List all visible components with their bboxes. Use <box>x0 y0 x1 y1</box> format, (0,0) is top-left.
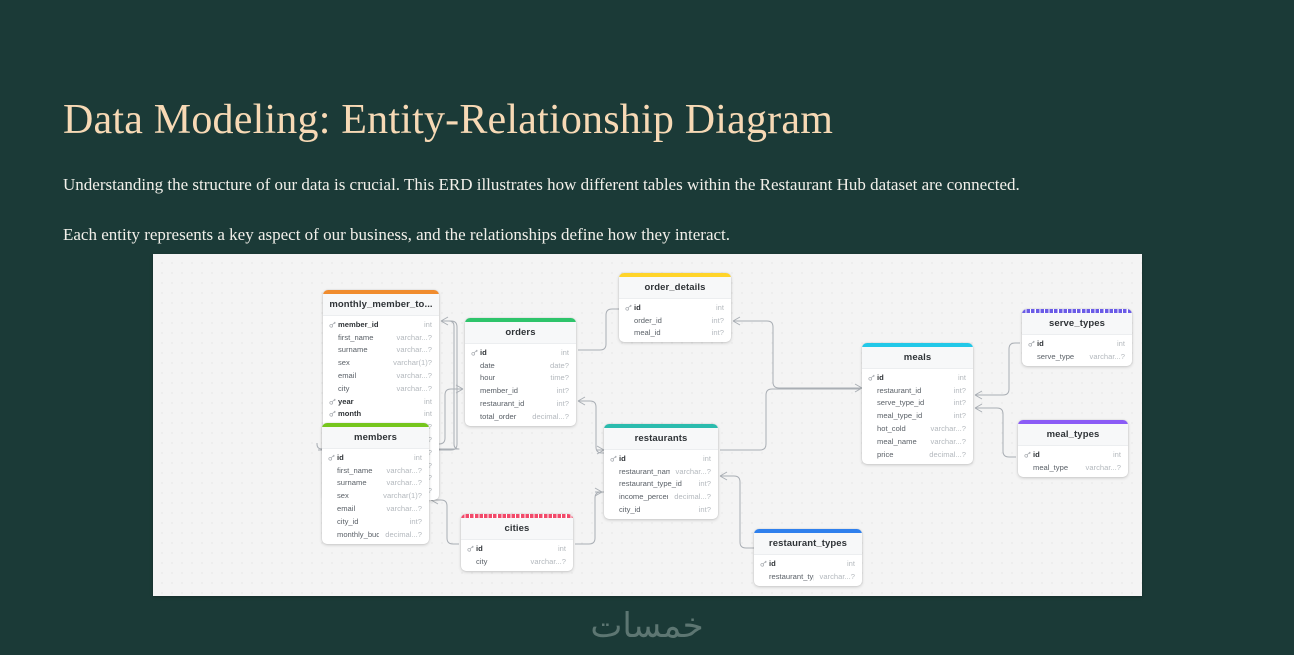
field-name: id <box>480 348 555 357</box>
table-field-row[interactable]: serve_typevarchar...? <box>1022 350 1132 363</box>
field-type: int? <box>699 479 711 488</box>
table-field-row[interactable]: idint <box>862 371 973 384</box>
erd-table-order_details[interactable]: order_detailsidintorder_idint?meal_idint… <box>619 273 731 342</box>
field-name: city <box>338 384 391 393</box>
primary-key-icon <box>1024 451 1031 458</box>
field-name: restaurant_id <box>480 399 551 408</box>
field-type: varchar(1)? <box>393 358 432 367</box>
table-field-row[interactable]: income_percentagdecimal...? <box>604 490 718 503</box>
field-type: int? <box>699 505 711 514</box>
table-field-row[interactable]: restaurant_namevarchar...? <box>604 465 718 478</box>
field-type: int <box>847 559 855 568</box>
field-type: int <box>424 409 432 418</box>
erd-table-meal_types[interactable]: meal_typesidintmeal_typevarchar...? <box>1018 420 1128 477</box>
field-type: varchar...? <box>820 572 855 581</box>
table-field-row[interactable]: emailvarchar...? <box>322 502 429 515</box>
field-name: meal_name <box>877 437 925 446</box>
intro-paragraph-1: Understanding the structure of our data … <box>63 175 1020 195</box>
table-field-list: idintfirst_namevarchar...?surnamevarchar… <box>322 449 429 544</box>
table-field-row[interactable]: meal_namevarchar...? <box>862 435 973 448</box>
table-field-row[interactable]: idint <box>1018 448 1128 461</box>
field-name: serve_type <box>1037 352 1084 361</box>
field-type: date? <box>550 361 569 370</box>
field-name: member_id <box>338 320 418 329</box>
field-name: surname <box>338 345 391 354</box>
primary-key-icon <box>868 374 875 381</box>
field-type: varchar...? <box>387 504 422 513</box>
field-type: int? <box>712 316 724 325</box>
field-name: surname <box>337 478 381 487</box>
field-name: first_name <box>338 333 391 342</box>
field-type: decimal...? <box>385 530 422 539</box>
table-field-list: idintcityvarchar...? <box>461 540 573 571</box>
field-name: month <box>338 409 418 418</box>
field-type: int? <box>954 411 966 420</box>
erd-table-orders[interactable]: ordersidintdatedate?hourtime?member_idin… <box>465 318 576 426</box>
field-type: int? <box>712 328 724 337</box>
field-type: int <box>414 453 422 462</box>
primary-key-icon <box>329 321 336 328</box>
field-name: sex <box>338 358 387 367</box>
table-field-row[interactable]: restaurant_typevarchar...? <box>754 570 862 583</box>
field-type: varchar...? <box>397 371 432 380</box>
table-field-row[interactable]: idint <box>754 557 862 570</box>
field-name: price <box>877 450 923 459</box>
table-field-row[interactable]: yearint <box>323 395 439 408</box>
erd-table-meals[interactable]: mealsidintrestaurant_idint?serve_type_id… <box>862 343 973 464</box>
field-name: first_name <box>337 466 381 475</box>
intro-paragraph-2: Each entity represents a key aspect of o… <box>63 225 730 245</box>
field-type: varchar(1)? <box>383 491 422 500</box>
erd-canvas[interactable]: monthly_member_to...member_idintfirst_na… <box>153 254 1142 596</box>
field-type: varchar...? <box>397 333 432 342</box>
erd-table-serve_types[interactable]: serve_typesidintserve_typevarchar...? <box>1022 309 1132 366</box>
table-field-row[interactable]: restaurant_idint? <box>862 384 973 397</box>
field-type: int? <box>410 517 422 526</box>
field-type: int? <box>954 386 966 395</box>
field-type: int? <box>557 399 569 408</box>
field-type: int? <box>557 386 569 395</box>
field-name: year <box>338 397 418 406</box>
table-title: orders <box>465 322 576 344</box>
field-name: hot_cold <box>877 424 925 433</box>
table-field-row[interactable]: restaurant_idint? <box>465 397 576 410</box>
field-name: city <box>476 557 525 566</box>
primary-key-icon <box>329 398 336 405</box>
field-type: int <box>703 454 711 463</box>
table-field-row[interactable]: monthly_budgetdecimal...? <box>322 528 429 541</box>
table-field-row[interactable]: idint <box>465 346 576 359</box>
field-name: monthly_budget <box>337 530 379 539</box>
field-type: int? <box>954 398 966 407</box>
field-name: member_id <box>480 386 551 395</box>
table-field-row[interactable]: first_namevarchar...? <box>322 464 429 477</box>
field-type: int <box>424 320 432 329</box>
field-name: email <box>338 371 391 380</box>
table-field-list: idintrestaurant_namevarchar...?restauran… <box>604 450 718 519</box>
field-type: varchar...? <box>387 478 422 487</box>
table-field-row[interactable]: surnamevarchar...? <box>323 344 439 357</box>
table-title: serve_types <box>1022 313 1132 335</box>
field-name: restaurant_type <box>769 572 814 581</box>
field-name: meal_type <box>1033 463 1080 472</box>
table-field-row[interactable]: emailvarchar...? <box>323 369 439 382</box>
field-name: id <box>1037 339 1111 348</box>
table-title: cities <box>461 518 573 540</box>
field-type: varchar...? <box>1086 463 1121 472</box>
table-field-row[interactable]: member_idint? <box>465 384 576 397</box>
site-watermark: خمسات <box>0 606 1294 646</box>
table-field-row[interactable]: monthint <box>323 408 439 421</box>
field-type: varchar...? <box>931 424 966 433</box>
table-title: monthly_member_to... <box>323 294 439 316</box>
page-title: Data Modeling: Entity-Relationship Diagr… <box>63 96 833 144</box>
table-field-row[interactable]: city_idint? <box>322 515 429 528</box>
field-type: int <box>424 397 432 406</box>
field-name: restaurant_name <box>619 467 670 476</box>
field-name: meal_type_id <box>877 411 948 420</box>
erd-table-restaurants[interactable]: restaurantsidintrestaurant_namevarchar..… <box>604 424 718 519</box>
table-title: members <box>322 427 429 449</box>
field-name: meal_id <box>634 328 706 337</box>
field-name: id <box>1033 450 1107 459</box>
field-type: decimal...? <box>674 492 711 501</box>
field-name: total_order <box>480 412 526 421</box>
table-field-row[interactable]: first_namevarchar...? <box>323 331 439 344</box>
table-field-row[interactable]: meal_typevarchar...? <box>1018 461 1128 474</box>
field-type: varchar...? <box>387 466 422 475</box>
field-name: id <box>619 454 697 463</box>
table-field-row[interactable]: hot_coldvarchar...? <box>862 422 973 435</box>
table-field-list: idintserve_typevarchar...? <box>1022 335 1132 366</box>
erd-table-restaurant_types[interactable]: restaurant_typesidintrestaurant_typevarc… <box>754 529 862 586</box>
field-type: varchar...? <box>1090 352 1125 361</box>
primary-key-icon <box>467 545 474 552</box>
field-name: city_id <box>337 517 404 526</box>
table-field-row[interactable]: sexvarchar(1)? <box>322 489 429 502</box>
table-field-row[interactable]: total_orderdecimal...? <box>465 410 576 423</box>
table-field-row[interactable]: idint <box>1022 337 1132 350</box>
table-field-row[interactable]: idint <box>604 452 718 465</box>
field-name: date <box>480 361 544 370</box>
primary-key-icon <box>760 560 767 567</box>
table-title: order_details <box>619 277 731 299</box>
field-name: order_id <box>634 316 706 325</box>
primary-key-icon <box>471 349 478 356</box>
table-field-row[interactable]: cityvarchar...? <box>323 382 439 395</box>
table-field-row[interactable]: sexvarchar(1)? <box>323 356 439 369</box>
field-name: id <box>769 559 841 568</box>
table-field-row[interactable]: serve_type_idint? <box>862 397 973 410</box>
primary-key-icon <box>329 410 336 417</box>
field-type: varchar...? <box>531 557 566 566</box>
table-field-row[interactable]: pricedecimal...? <box>862 448 973 461</box>
field-type: time? <box>550 373 569 382</box>
table-field-row[interactable]: city_idint? <box>604 503 718 516</box>
table-field-row[interactable]: member_idint <box>323 318 439 331</box>
primary-key-icon <box>328 454 335 461</box>
table-field-list: idintrestaurant_idint?serve_type_idint?m… <box>862 369 973 464</box>
table-field-row[interactable]: order_idint? <box>619 314 731 327</box>
erd-table-members[interactable]: membersidintfirst_namevarchar...?surname… <box>322 423 429 544</box>
table-title: restaurants <box>604 428 718 450</box>
field-name: id <box>337 453 408 462</box>
field-name: restaurant_type_id <box>619 479 693 488</box>
table-title: meal_types <box>1018 424 1128 446</box>
field-name: sex <box>337 491 377 500</box>
table-field-row[interactable]: datedate? <box>465 359 576 372</box>
field-name: serve_type_id <box>877 398 948 407</box>
field-type: varchar...? <box>397 384 432 393</box>
table-title: meals <box>862 347 973 369</box>
table-field-row[interactable]: idint <box>461 542 573 555</box>
field-type: varchar...? <box>676 467 711 476</box>
table-field-row[interactable]: idint <box>619 301 731 314</box>
field-name: id <box>476 544 552 553</box>
field-type: int <box>958 373 966 382</box>
field-type: decimal...? <box>929 450 966 459</box>
field-name: hour <box>480 373 544 382</box>
table-title: restaurant_types <box>754 533 862 555</box>
field-name: id <box>634 303 710 312</box>
table-field-row[interactable]: cityvarchar...? <box>461 555 573 568</box>
field-type: varchar...? <box>931 437 966 446</box>
field-type: decimal...? <box>532 412 569 421</box>
primary-key-icon <box>1028 340 1035 347</box>
field-name: city_id <box>619 505 693 514</box>
field-type: int <box>561 348 569 357</box>
table-field-list: idintrestaurant_typevarchar...? <box>754 555 862 586</box>
field-type: int <box>1113 450 1121 459</box>
field-name: id <box>877 373 952 382</box>
table-field-row[interactable]: restaurant_type_idint? <box>604 478 718 491</box>
table-field-list: idintorder_idint?meal_idint? <box>619 299 731 342</box>
table-field-list: idintmeal_typevarchar...? <box>1018 446 1128 477</box>
table-field-row[interactable]: hourtime? <box>465 372 576 385</box>
field-type: varchar...? <box>397 345 432 354</box>
field-type: int <box>558 544 566 553</box>
table-field-row[interactable]: meal_idint? <box>619 327 731 340</box>
field-name: income_percentag <box>619 492 668 501</box>
erd-table-cities[interactable]: citiesidintcityvarchar...? <box>461 514 573 571</box>
table-field-list: idintdatedate?hourtime?member_idint?rest… <box>465 344 576 426</box>
table-field-row[interactable]: meal_type_idint? <box>862 409 973 422</box>
field-type: int <box>1117 339 1125 348</box>
field-name: email <box>337 504 381 513</box>
field-name: restaurant_id <box>877 386 948 395</box>
primary-key-icon <box>610 455 617 462</box>
primary-key-icon <box>625 304 632 311</box>
table-field-row[interactable]: idint <box>322 451 429 464</box>
table-field-row[interactable]: surnamevarchar...? <box>322 477 429 490</box>
field-type: int <box>716 303 724 312</box>
